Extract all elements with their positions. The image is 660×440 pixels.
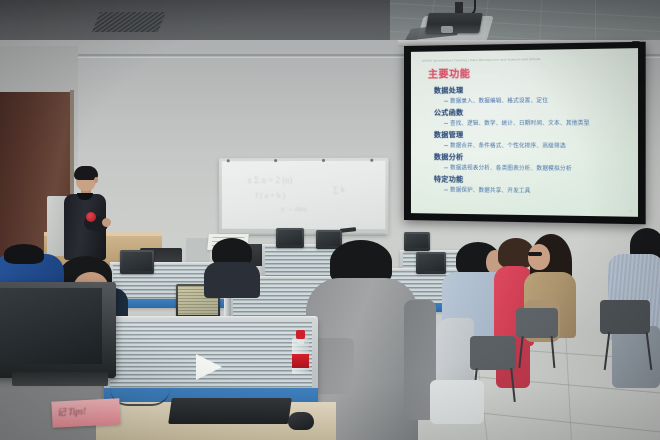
slide-bullet-detail-text: 数据合并、条件格式、个性化排序、高级筛选	[450, 143, 566, 149]
whiteboard-clip	[370, 159, 373, 162]
slide-bullet-detail-text: 数据透视表分析、各类图表分析、数据模拟分析	[450, 165, 572, 172]
slide-bullet: 特定功能 数据保护、数据共享、开发工具	[422, 174, 628, 196]
whiteboard-clip	[274, 159, 277, 162]
slide-bullet-detail-text: 查找、逻辑、数学、统计、日期时间、文本、其他类型	[450, 121, 590, 127]
slide-bullet-detail: 数据合并、条件格式、个性化排序、高级筛选	[444, 141, 628, 150]
slide-header: UFIDA Spreadsheet Training | Data Manage…	[422, 56, 628, 63]
sticky-note[interactable]: 记 Tips!	[51, 398, 120, 428]
slide-bullet: 公式函数 查找、逻辑、数学、统计、日期时间、文本、其他类型	[422, 107, 628, 127]
attendee-striped-shirt-lap	[612, 326, 660, 388]
slide-bullet-heading: 数据处理	[434, 84, 628, 96]
sticky-note-text: 记 Tips!	[57, 404, 87, 419]
crt-monitor	[120, 250, 154, 274]
dash-icon	[444, 145, 448, 146]
side-table	[186, 238, 210, 264]
dash-icon	[444, 167, 448, 168]
slide-bullet-detail: 数据透视表分析、各类图表分析、数据模拟分析	[444, 163, 628, 172]
slide-bullet-detail: 数据录入、数据编辑、格式设置、定位	[444, 95, 628, 104]
projection-screen-surface: UFIDA Spreadsheet Training | Data Manage…	[411, 48, 638, 217]
slide-bullet-heading: 数据分析	[434, 152, 628, 163]
projector-lens-icon	[441, 26, 453, 33]
slide-page-number: 7	[630, 209, 632, 213]
slide-bullet-detail: 查找、逻辑、数学、统计、日期时间、文本、其他类型	[444, 118, 628, 127]
slide-bullet: 数据分析 数据透视表分析、各类图表分析、数据模拟分析	[422, 152, 628, 173]
foreground-monitor-base	[12, 372, 108, 386]
computer-mouse[interactable]	[288, 412, 314, 430]
slide-bullet: 数据处理 数据录入、数据编辑、格式设置、定位	[422, 84, 628, 105]
keyboard[interactable]	[168, 398, 292, 424]
dash-icon	[444, 101, 448, 102]
whiteboard-scribble: y → data	[281, 205, 307, 213]
whiteboard: x Σ n = 2 (n) f ( a + b ) y → data ∑ k	[219, 158, 389, 235]
whiteboard-scribble: f ( a + b )	[255, 191, 285, 200]
slide-content: UFIDA Spreadsheet Training | Data Manage…	[411, 48, 638, 217]
presenter	[62, 168, 108, 260]
slide-title: 主要功能	[428, 63, 628, 81]
chair[interactable]	[470, 336, 516, 370]
bottle-cap	[296, 330, 305, 339]
classroom-scene: UFIDA Spreadsheet Training | Data Manage…	[0, 0, 660, 440]
eyeglasses-icon	[528, 252, 542, 256]
crt-monitor	[276, 228, 304, 248]
foreground-monitor	[0, 282, 116, 378]
chair[interactable]	[516, 308, 558, 338]
whiteboard-clip	[322, 159, 325, 162]
slide-bullet-detail: 数据保护、数据共享、开发工具	[444, 185, 628, 195]
bottle-label	[292, 354, 309, 368]
crt-monitor	[404, 232, 430, 251]
presenter-ear	[94, 177, 98, 183]
slide-bullet-heading: 数据管理	[434, 130, 628, 140]
whiteboard-scribble: ∑ k	[333, 185, 345, 194]
foreground-monitor-screen	[0, 288, 102, 364]
slide-bullet-heading: 公式函数	[434, 107, 628, 118]
ceiling-vent-icon	[92, 12, 166, 32]
crt-monitor	[416, 252, 446, 274]
dash-icon	[444, 123, 448, 124]
slide-bullet: 数据管理 数据合并、条件格式、个性化排序、高级筛选	[422, 130, 628, 150]
presenter-hand	[102, 218, 111, 227]
slide-bullet-detail-text: 数据保护、数据共享、开发工具	[450, 188, 530, 195]
coca-cola-bottle[interactable]	[292, 330, 309, 374]
projector-icon	[425, 13, 483, 33]
whiteboard-clip	[227, 159, 230, 162]
whiteboard-scribble: x Σ n = 2 (n)	[247, 175, 292, 185]
presenter-shirt-logo	[86, 212, 96, 222]
slide-bullet-heading: 特定功能	[434, 174, 628, 186]
dash-icon	[444, 190, 448, 191]
projection-screen: UFIDA Spreadsheet Training | Data Manage…	[404, 42, 646, 225]
slide-bullet-detail-text: 数据录入、数据编辑、格式设置、定位	[450, 98, 548, 105]
chair-white[interactable]	[430, 380, 484, 424]
chair[interactable]	[600, 300, 650, 334]
whiteboard-surface: x Σ n = 2 (n) f ( a + b ) y → data ∑ k	[222, 161, 386, 230]
slide-bullet-list: 数据处理 数据录入、数据编辑、格式设置、定位 公式函数 查找、逻辑、数学、统计、…	[422, 84, 628, 196]
